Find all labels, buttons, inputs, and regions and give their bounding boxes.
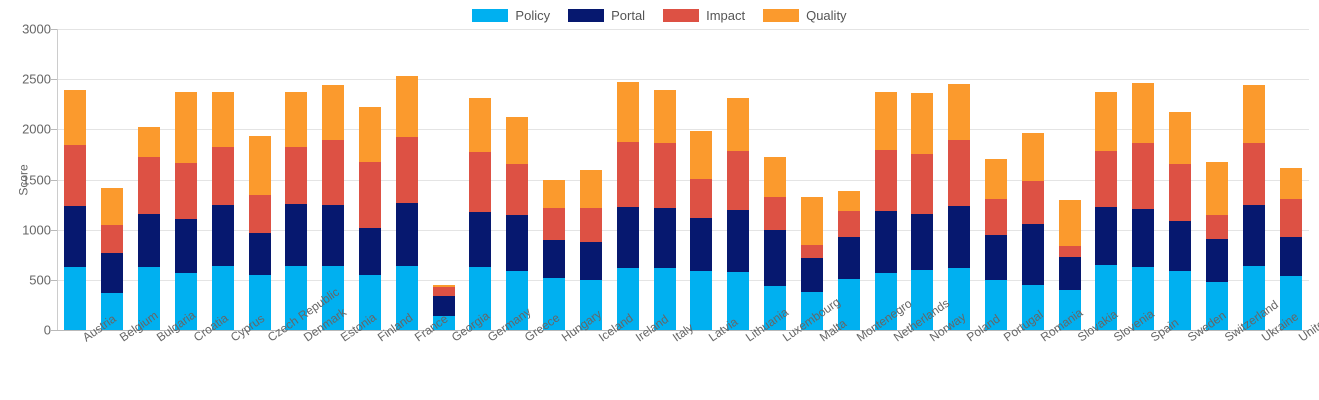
bar-segment-quality[interactable]	[1095, 92, 1117, 152]
bar-segment-impact[interactable]	[801, 245, 823, 258]
bar-group[interactable]	[838, 191, 860, 330]
x-axis-label: Croatia	[191, 333, 199, 344]
bar-segment-impact[interactable]	[1022, 181, 1044, 225]
bar-group[interactable]	[875, 92, 897, 330]
bar-group[interactable]	[469, 98, 491, 330]
bar-segment-quality[interactable]	[911, 93, 933, 154]
bar-segment-quality[interactable]	[875, 92, 897, 151]
legend-swatch-policy	[472, 9, 508, 22]
bar-segment-quality[interactable]	[948, 84, 970, 141]
legend-item-quality[interactable]: Quality	[763, 8, 846, 23]
bar-group[interactable]	[506, 117, 528, 330]
bar-segment-impact[interactable]	[212, 147, 234, 205]
bar-segment-quality[interactable]	[1059, 200, 1081, 246]
x-axis-label: Ukraine	[1259, 333, 1267, 344]
bar-segment-impact[interactable]	[727, 151, 749, 209]
bar-segment-quality[interactable]	[617, 82, 639, 142]
bar-segment-impact[interactable]	[838, 211, 860, 238]
bar-segment-impact[interactable]	[690, 179, 712, 219]
bar-segment-quality[interactable]	[212, 92, 234, 147]
bar-segment-quality[interactable]	[433, 285, 455, 288]
bar-segment-impact[interactable]	[433, 287, 455, 296]
bar-segment-impact[interactable]	[543, 208, 565, 240]
y-tick-label: 2500	[22, 72, 51, 87]
bar-segment-portal[interactable]	[212, 205, 234, 266]
bar-segment-impact[interactable]	[764, 197, 786, 230]
bar-segment-portal[interactable]	[1022, 224, 1044, 285]
legend-swatch-impact	[663, 9, 699, 22]
bar-segment-impact[interactable]	[617, 142, 639, 207]
bar-group[interactable]	[985, 159, 1007, 330]
bar-group[interactable]	[911, 93, 933, 330]
bar-segment-quality[interactable]	[175, 92, 197, 163]
bar-segment-impact[interactable]	[359, 162, 381, 227]
bar-segment-portal[interactable]	[580, 242, 602, 281]
bar-segment-portal[interactable]	[1280, 237, 1302, 276]
x-axis-label: Czech Republic	[265, 333, 273, 344]
y-tick-label: 1500	[22, 172, 51, 187]
x-axis-label: Greece	[522, 333, 530, 344]
bar-segment-impact[interactable]	[1059, 246, 1081, 258]
x-axis-label: Bulgaria	[154, 333, 162, 344]
bar-group[interactable]	[64, 90, 86, 330]
x-axis-label: Estonia	[338, 333, 346, 344]
x-axis-label: Slovenia	[1111, 333, 1119, 344]
x-axis-label: Italy	[670, 333, 678, 344]
bar-group[interactable]	[396, 76, 418, 330]
bar-group[interactable]	[690, 131, 712, 330]
bar-segment-portal[interactable]	[1169, 221, 1191, 271]
bar-segment-portal[interactable]	[138, 214, 160, 267]
bar-group[interactable]	[138, 127, 160, 330]
bar-segment-portal[interactable]	[1095, 207, 1117, 265]
x-axis-labels: AustriaBelgiumBulgariaCroatiaCyprusCzech…	[57, 333, 1309, 400]
x-axis-label: Portugal	[1001, 333, 1009, 344]
legend-label: Impact	[706, 8, 745, 23]
plot-area: Score 050010001500200025003000	[57, 29, 1309, 331]
x-axis-label: Germany	[485, 333, 493, 344]
bar-group[interactable]	[1243, 85, 1265, 330]
bar-segment-impact[interactable]	[175, 163, 197, 219]
bar-segment-portal[interactable]	[764, 230, 786, 286]
bar-segment-quality[interactable]	[690, 131, 712, 179]
bar-segment-portal[interactable]	[506, 215, 528, 271]
bar-segment-portal[interactable]	[948, 206, 970, 268]
x-axis-label: Denmark	[301, 333, 309, 344]
bar-segment-impact[interactable]	[64, 145, 86, 206]
bar-segment-policy[interactable]	[64, 267, 86, 330]
x-axis-label: Hungary	[559, 333, 567, 344]
bar-group[interactable]	[249, 136, 271, 330]
bar-segment-quality[interactable]	[1243, 85, 1265, 143]
x-axis-label: Austria	[80, 333, 88, 344]
bar-segment-portal[interactable]	[1132, 209, 1154, 268]
bar-segment-quality[interactable]	[1132, 83, 1154, 143]
bar-segment-impact[interactable]	[249, 195, 271, 234]
bar-segment-portal[interactable]	[175, 219, 197, 273]
bar-segment-portal[interactable]	[469, 212, 491, 267]
bar-segment-portal[interactable]	[875, 211, 897, 274]
bar-segment-quality[interactable]	[138, 127, 160, 157]
bar-segment-portal[interactable]	[654, 208, 676, 268]
x-axis-label: Sweden	[1185, 333, 1193, 344]
bar-segment-quality[interactable]	[985, 159, 1007, 199]
bar-segment-quality[interactable]	[249, 136, 271, 194]
bar-group[interactable]	[1132, 83, 1154, 330]
bar-segment-portal[interactable]	[396, 203, 418, 267]
y-tick-label: 2000	[22, 122, 51, 137]
bar-segment-quality[interactable]	[801, 197, 823, 245]
bar-segment-portal[interactable]	[985, 235, 1007, 281]
x-axis-label: France	[412, 333, 420, 344]
bar-segment-impact[interactable]	[1095, 151, 1117, 206]
bar-group[interactable]	[101, 188, 123, 330]
bar-segment-quality[interactable]	[1022, 133, 1044, 180]
bar-segment-quality[interactable]	[322, 85, 344, 140]
x-axis-label: Malta	[817, 333, 825, 344]
bar-segment-portal[interactable]	[690, 218, 712, 271]
bar-segment-impact[interactable]	[506, 164, 528, 215]
y-tick-label: 3000	[22, 22, 51, 37]
bar-segment-quality[interactable]	[285, 92, 307, 147]
x-axis-label: Lithuania	[743, 333, 751, 344]
x-axis-label: Iceland	[596, 333, 604, 344]
bar-segment-portal[interactable]	[249, 233, 271, 275]
bar-segment-portal[interactable]	[359, 228, 381, 276]
bar-segment-quality[interactable]	[64, 90, 86, 145]
bar-segment-impact[interactable]	[396, 137, 418, 202]
bar-segment-impact[interactable]	[101, 225, 123, 253]
legend-label: Policy	[515, 8, 550, 23]
bar-segment-quality[interactable]	[838, 191, 860, 211]
bar-segment-impact[interactable]	[469, 152, 491, 212]
bar-segment-impact[interactable]	[911, 154, 933, 214]
legend-item-portal[interactable]: Portal	[568, 8, 645, 23]
bar-segment-quality[interactable]	[506, 117, 528, 164]
bar-segment-impact[interactable]	[1132, 143, 1154, 208]
bar-segment-impact[interactable]	[948, 140, 970, 206]
bar-segment-quality[interactable]	[101, 188, 123, 226]
x-axis-label: United Kingdom	[1296, 333, 1304, 344]
bar-group[interactable]	[1095, 92, 1117, 330]
bar-segment-quality[interactable]	[1280, 168, 1302, 199]
legend-item-impact[interactable]: Impact	[663, 8, 745, 23]
bar-segment-portal[interactable]	[1206, 239, 1228, 282]
bar-segment-impact[interactable]	[1206, 215, 1228, 239]
x-axis-label: Luxembourg	[780, 333, 788, 344]
bar-segment-impact[interactable]	[1169, 164, 1191, 221]
bar-segment-quality[interactable]	[580, 170, 602, 208]
stacked-bar-chart: PolicyPortalImpactQuality Score 05001000…	[0, 0, 1319, 400]
bar-segment-impact[interactable]	[654, 143, 676, 208]
chart-legend: PolicyPortalImpactQuality	[0, 8, 1319, 23]
legend-swatch-portal	[568, 9, 604, 22]
bar-segment-portal[interactable]	[801, 258, 823, 292]
bar-segment-impact[interactable]	[1243, 143, 1265, 204]
y-tick-label: 1000	[22, 222, 51, 237]
bar-segment-portal[interactable]	[1243, 205, 1265, 266]
bar-group[interactable]	[948, 84, 970, 330]
bar-group[interactable]	[727, 98, 749, 330]
legend-item-policy[interactable]: Policy	[472, 8, 550, 23]
bar-segment-portal[interactable]	[101, 253, 123, 293]
bar-group[interactable]	[580, 170, 602, 330]
bar-group[interactable]	[359, 107, 381, 330]
bar-group[interactable]	[175, 92, 197, 330]
bar-segment-portal[interactable]	[617, 207, 639, 268]
bar-group[interactable]	[1169, 112, 1191, 330]
x-axis-label: Netherlands	[891, 333, 899, 344]
bar-segment-policy[interactable]	[690, 271, 712, 330]
bar-group[interactable]	[1022, 133, 1044, 330]
y-tick-label: 0	[44, 323, 51, 338]
x-axis-label: Latvia	[706, 333, 714, 344]
x-axis-label: Switzerland	[1222, 333, 1230, 344]
bar-segment-impact[interactable]	[285, 147, 307, 204]
bar-segment-portal[interactable]	[727, 210, 749, 272]
legend-label: Portal	[611, 8, 645, 23]
bar-segment-impact[interactable]	[580, 208, 602, 242]
x-axis-label: Georgia	[449, 333, 457, 344]
bar-segment-impact[interactable]	[1280, 199, 1302, 237]
bar-segment-quality[interactable]	[1169, 112, 1191, 164]
x-axis-label: Belgium	[117, 333, 125, 344]
bar-segment-quality[interactable]	[543, 180, 565, 208]
bar-group[interactable]	[1280, 168, 1302, 330]
bar-segment-portal[interactable]	[64, 206, 86, 267]
bar-segment-portal[interactable]	[911, 214, 933, 271]
bar-segment-portal[interactable]	[543, 240, 565, 278]
bar-segment-impact[interactable]	[985, 199, 1007, 235]
bar-group[interactable]	[1206, 162, 1228, 330]
bar-segment-portal[interactable]	[285, 204, 307, 266]
bar-segment-portal[interactable]	[838, 237, 860, 279]
y-tick-label: 500	[29, 272, 51, 287]
bar-segment-quality[interactable]	[764, 157, 786, 196]
bar-segment-portal[interactable]	[1059, 257, 1081, 290]
bar-series-container	[57, 29, 1309, 331]
bar-group[interactable]	[212, 92, 234, 330]
bar-group[interactable]	[654, 90, 676, 330]
x-axis-label: Norway	[927, 333, 935, 344]
legend-swatch-quality	[763, 9, 799, 22]
bar-segment-quality[interactable]	[654, 90, 676, 143]
x-axis-label: Poland	[964, 333, 972, 344]
x-axis-label: Montenegro	[854, 333, 862, 344]
x-axis-label: Slovakia	[1075, 333, 1083, 344]
bar-segment-quality[interactable]	[727, 98, 749, 151]
bar-segment-quality[interactable]	[359, 107, 381, 162]
bar-segment-impact[interactable]	[322, 140, 344, 204]
bar-segment-quality[interactable]	[469, 98, 491, 152]
bar-segment-quality[interactable]	[1206, 162, 1228, 214]
bar-segment-quality[interactable]	[396, 76, 418, 137]
x-axis-label: Ireland	[633, 333, 641, 344]
bar-segment-portal[interactable]	[322, 205, 344, 267]
x-axis-label: Cyprus	[228, 333, 236, 344]
legend-label: Quality	[806, 8, 846, 23]
bar-group[interactable]	[617, 82, 639, 330]
x-axis-label: Spain	[1148, 333, 1156, 344]
bar-segment-impact[interactable]	[138, 157, 160, 214]
x-axis-label: Romania	[1038, 333, 1046, 344]
bar-segment-impact[interactable]	[875, 150, 897, 210]
bar-group[interactable]	[285, 92, 307, 330]
x-axis-label: Finland	[375, 333, 383, 344]
bar-group[interactable]	[543, 180, 565, 331]
